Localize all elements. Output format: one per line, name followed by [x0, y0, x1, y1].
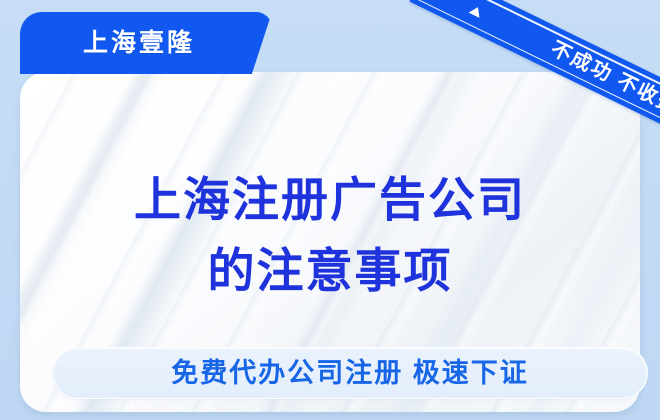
footer-cta-label: 免费代办公司注册 极速下证	[171, 360, 529, 387]
headline-line-2: 的注意事项	[20, 235, 640, 306]
brand-tab-label: 上海壹隆	[83, 31, 195, 56]
headline: 上海注册广告公司 的注意事项	[20, 164, 640, 307]
content-card: 上海注册广告公司 的注意事项 免费代办公司注册 极速下证	[20, 72, 640, 412]
triangle-up-icon	[469, 4, 484, 17]
brand-tab[interactable]: 上海壹隆	[20, 12, 272, 74]
promo-banner: 上海注册广告公司 的注意事项 免费代办公司注册 极速下证 上海壹隆 不成功 不收…	[0, 0, 660, 420]
headline-line-1: 上海注册广告公司	[20, 164, 640, 235]
footer-cta-pill[interactable]: 免费代办公司注册 极速下证	[52, 347, 648, 399]
